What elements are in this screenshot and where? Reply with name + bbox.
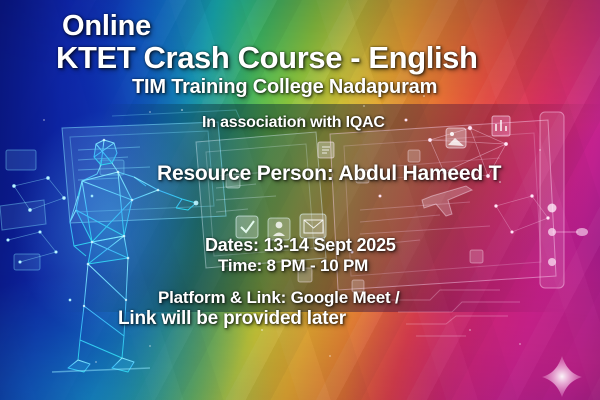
right-vertical-panel (540, 112, 588, 288)
circuit-traces (390, 290, 520, 336)
time-line: Time: 8 PM - 10 PM (218, 256, 368, 276)
network-nodes-right (351, 119, 550, 254)
platform-line: Platform & Link: Google Meet / (158, 288, 399, 308)
page-title: KTET Crash Course - English (56, 40, 478, 76)
image-tile-icon (446, 128, 466, 148)
four-point-sparkle-star (542, 356, 582, 397)
dates-line: Dates: 13-14 Sept 2025 (205, 235, 396, 256)
airplane-motif (422, 186, 472, 216)
promotional-poster: Online KTET Crash Course - English TIM T… (0, 0, 600, 400)
document-tile-icon (318, 142, 334, 158)
platform-note-line: Link will be provided later (118, 308, 346, 330)
left-small-panel (0, 150, 124, 270)
institution-name: TIM Training College Nadapuram (132, 76, 437, 99)
headline-kicker: Online (62, 10, 151, 43)
network-nodes-left (7, 176, 94, 301)
center-tech-band (0, 104, 600, 312)
chart-tile-icon (492, 116, 510, 136)
resource-person-line: Resource Person: Abdul Hameed T (157, 162, 501, 186)
association-line: In association with IQAC (202, 114, 385, 132)
